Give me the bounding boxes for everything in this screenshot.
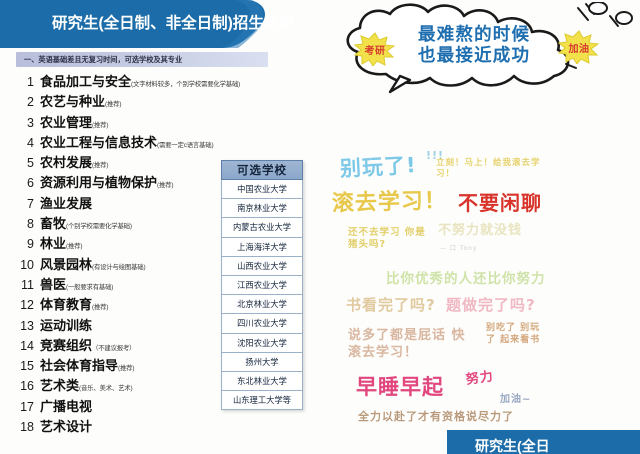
cloud-slogan-line-2: 也最接近成功 xyxy=(418,45,530,66)
poster-page: 研究生(全日制、非全日制)招生简章 一、英语基础差且无复习时间，可选学校及其专业… xyxy=(0,0,640,454)
bottom-banner: 研究生(全日 xyxy=(447,430,640,454)
major-name: 食品加工与安全 xyxy=(40,74,131,89)
major-row: 17广播电视 xyxy=(14,396,244,416)
graffiti-signature: — 口 Tony xyxy=(440,246,478,253)
major-number: 10 xyxy=(14,258,34,272)
major-number: 16 xyxy=(14,379,34,393)
major-note: (推荐) xyxy=(92,122,108,129)
graffiti-early-to-bed: 早睡早起 xyxy=(356,375,444,399)
school-table-row: 山东理工大学等 xyxy=(221,391,303,410)
major-name: 风景园林 xyxy=(40,257,92,272)
school-table-body: 中国农业大学南京林业大学内蒙古农业大学上海海洋大学山西农业大学江西农业大学北京林… xyxy=(221,180,303,410)
major-number: 13 xyxy=(14,319,34,333)
badge-jiayou: 加油 xyxy=(558,30,600,64)
graffiti-right-now: 立刻！马上！给我滚去学习！ xyxy=(436,158,541,180)
major-row: 10风景园林(有设计与绘图基础) xyxy=(14,254,244,274)
graffiti-get-up-and-read: 别吃了 别玩了 起来看书 xyxy=(486,322,546,346)
major-number: 14 xyxy=(14,339,34,353)
major-name: 农艺与种业 xyxy=(40,94,105,109)
major-list: 1食品加工与安全(文字材料较多，个别学校需要化学基础)2农艺与种业(推荐)3农业… xyxy=(14,71,244,436)
major-row: 7渔业发展 xyxy=(14,193,244,213)
major-name: 社会体育指导 xyxy=(40,358,118,373)
major-row: 2农艺与种业(推荐) xyxy=(14,91,244,111)
major-note: (一般要求有基础) xyxy=(66,284,113,291)
major-row: 12体育教育(推荐) xyxy=(14,294,244,314)
major-name: 渔业发展 xyxy=(40,196,92,211)
major-name: 林业 xyxy=(40,236,66,251)
graffiti-no-chatting: 不要闲聊 xyxy=(458,192,542,215)
graffiti-better-work-harder: 比你优秀的人还比你努力 xyxy=(386,272,546,288)
major-name: 体育教育 xyxy=(40,297,92,312)
page-title: 研究生(全日制、非全日制)招生简章 xyxy=(52,11,295,33)
major-name: 农村发展 xyxy=(40,155,92,170)
major-number: 2 xyxy=(14,95,34,109)
major-row: 16艺术类(音乐、美术、艺术) xyxy=(14,375,244,395)
cloud-slogan-line-1: 最难熬的时候 xyxy=(418,24,530,45)
major-row: 9林业(推荐) xyxy=(14,233,244,253)
major-note: (推荐) xyxy=(157,182,173,189)
school-table-row: 北京林业大学 xyxy=(221,295,303,314)
major-number: 12 xyxy=(14,298,34,312)
major-note: (推荐) xyxy=(92,162,108,169)
graffiti-pig-head: 还不去学习 你是猪头吗? xyxy=(348,227,428,251)
major-note: (有设计与绘图基础) xyxy=(92,264,145,271)
graffiti-work-hard: 努力 xyxy=(465,370,495,389)
major-row: 3农业管理(推荐) xyxy=(14,112,244,132)
major-name: 畜牧 xyxy=(40,216,66,231)
section-note-bar: 一、英语基础差且无复习时间，可选学校及其专业 xyxy=(16,52,268,67)
school-table-header: 可选学校 xyxy=(221,160,303,180)
major-row: 8畜牧(个别学校需要化学基础) xyxy=(14,213,244,233)
school-table-row: 扬州大学 xyxy=(221,353,303,372)
major-note: (文字材料较多，个别学校需要化学基础) xyxy=(131,81,240,88)
major-row: 13运动训练 xyxy=(14,315,244,335)
badge-kaoyan-label: 考研 xyxy=(365,42,386,57)
section-note-text: 一、英语基础差且无复习时间，可选学校及其专业 xyxy=(24,55,182,65)
major-number: 8 xyxy=(14,217,34,231)
major-number: 5 xyxy=(14,156,34,170)
major-note: (推荐) xyxy=(92,304,108,311)
major-name: 资源利用与植物保护 xyxy=(40,175,157,190)
major-name: 艺术类 xyxy=(40,378,79,393)
graffiti-jiayou: 加油~ xyxy=(500,394,531,406)
major-name: 广播电视 xyxy=(40,399,92,414)
graffiti-full-effort: 全力以赴了才有资格说尽力了 xyxy=(358,411,514,424)
major-note: （不建议报考） xyxy=(92,345,135,352)
graffiti-no-effort-no-money: 不努力就没钱 xyxy=(438,224,522,239)
graffiti-dont-play: 别玩了! xyxy=(339,153,417,181)
major-row: 14竞赛组织（不建议报考） xyxy=(14,335,244,355)
major-number: 3 xyxy=(14,116,34,130)
major-row: 1食品加工与安全(文字材料较多，个别学校需要化学基础) xyxy=(14,71,244,91)
school-table-row: 中国农业大学 xyxy=(221,180,303,199)
school-table-row: 沈阳农业大学 xyxy=(221,334,303,353)
cloud-banner: 最难熬的时候 也最接近成功 考研 加油 xyxy=(326,2,638,94)
major-name: 竞赛组织 xyxy=(40,338,92,353)
major-number: 1 xyxy=(14,75,34,89)
major-row: 4农业工程与信息技术(需要一定c语言基础) xyxy=(14,132,244,152)
cloud-slogan: 最难熬的时候 也最接近成功 xyxy=(418,24,530,66)
major-number: 7 xyxy=(14,197,34,211)
major-number: 11 xyxy=(14,278,34,292)
badge-kaoyan: 考研 xyxy=(354,32,396,66)
graffiti-go-study: 滚去学习！ xyxy=(332,188,448,216)
major-name: 农业工程与信息技术 xyxy=(40,135,157,150)
major-number: 18 xyxy=(14,420,34,434)
major-note: (音乐、美术、艺术) xyxy=(79,385,132,392)
major-number: 6 xyxy=(14,176,34,190)
major-note: (推荐) xyxy=(105,101,121,108)
major-number: 4 xyxy=(14,136,34,150)
major-note: (个别学校需要化学基础) xyxy=(66,223,132,230)
major-name: 兽医 xyxy=(40,277,66,292)
badge-jiayou-label: 加油 xyxy=(569,40,590,55)
major-row: 15社会体育指导(推荐) xyxy=(14,355,244,375)
major-note: (需要一定c语言基础) xyxy=(157,142,213,149)
school-table-row: 内蒙古农业大学 xyxy=(221,218,303,237)
school-table-row: 上海海洋大学 xyxy=(221,238,303,257)
school-table-row: 山西农业大学 xyxy=(221,257,303,276)
major-name: 运动训练 xyxy=(40,318,92,333)
major-row: 18艺术设计 xyxy=(14,416,244,436)
major-row: 6资源利用与植物保护(推荐) xyxy=(14,172,244,192)
school-table-row: 四川农业大学 xyxy=(221,314,303,333)
major-note: (推荐) xyxy=(66,243,82,250)
major-row: 5农村发展(推荐) xyxy=(14,152,244,172)
major-number: 9 xyxy=(14,237,34,251)
major-name: 农业管理 xyxy=(40,115,92,130)
graffiti-finished-problems: 题做完了吗? xyxy=(446,297,536,314)
graffiti-finished-reading: 书看完了吗? xyxy=(346,297,436,314)
bottom-banner-label: 研究生(全日 xyxy=(475,436,550,454)
school-table-row: 东北林业大学 xyxy=(221,372,303,391)
graffiti-stop-talking: 说多了都是屁话 快滚去学习！ xyxy=(348,327,473,361)
school-table-row: 江西农业大学 xyxy=(221,276,303,295)
motivation-board: 最难熬的时候 也最接近成功 考研 加油 别玩了! !!! 立刻！马上！给我滚去学… xyxy=(318,0,640,454)
school-table: 可选学校 中国农业大学南京林业大学内蒙古农业大学上海海洋大学山西农业大学江西农业… xyxy=(221,160,303,410)
major-note: (推荐) xyxy=(118,365,134,372)
major-number: 15 xyxy=(14,359,34,373)
school-table-row: 南京林业大学 xyxy=(221,199,303,218)
major-row: 11兽医(一般要求有基础) xyxy=(14,274,244,294)
major-name: 艺术设计 xyxy=(40,419,92,434)
major-number: 17 xyxy=(14,400,34,414)
